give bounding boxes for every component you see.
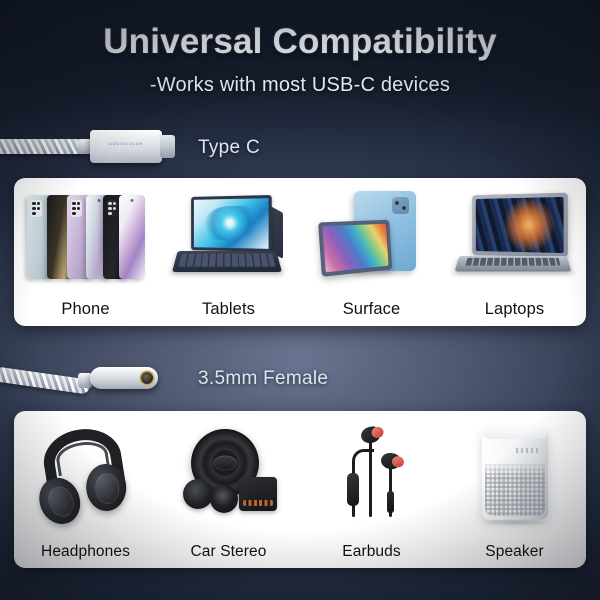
surface-front-screen: [318, 220, 392, 277]
surface-illustration: [300, 178, 443, 297]
laptop-keyboard-base: [454, 256, 571, 271]
car-speaker-tweeter: [210, 485, 238, 513]
plug-brand-text: AUDIOCULAR: [90, 141, 162, 146]
device-cell-speaker: Speaker: [443, 411, 586, 568]
top-glow-overlay: [0, 0, 600, 130]
phone-notch: [97, 199, 100, 202]
earbud-plug: [387, 491, 394, 513]
earbud-wire: [369, 441, 372, 517]
device-cell-earbuds: Earbuds: [300, 411, 443, 568]
speaker-mesh-grille: [485, 464, 545, 516]
car-speaker-midrange: [183, 479, 213, 509]
laptop-screen: [475, 197, 563, 253]
cable-braid: [0, 366, 91, 394]
speaker-shadow: [480, 519, 550, 526]
page-subtitle: -Works with most USB-C devices: [0, 74, 600, 97]
phone-camera-icon: [31, 200, 42, 217]
tablet-screen: [191, 195, 272, 252]
car-stereo-illustration: [157, 411, 300, 540]
laptop-illustration: [443, 178, 586, 297]
section-label-type-c: Type C: [198, 137, 260, 159]
speaker-top-cap: [482, 428, 548, 439]
phone-notch: [130, 199, 133, 202]
device-caption-headphones: Headphones: [41, 544, 130, 560]
headphones-illustration: [14, 411, 157, 540]
car-crossover-box: [239, 477, 277, 511]
phone-camera-icon: [71, 200, 82, 217]
device-cell-laptops: Laptops: [443, 178, 586, 326]
phone-device-6: [119, 195, 145, 279]
device-cell-headphones: Headphones: [14, 411, 157, 568]
cable-braid: [0, 139, 90, 154]
device-cell-surface: Surface: [300, 178, 443, 326]
earbud-inline-remote: [347, 473, 359, 506]
earbuds-illustration: [300, 411, 443, 540]
device-cell-tablets: Tablets: [157, 178, 300, 326]
earbud-right: [379, 452, 400, 471]
device-caption-car-stereo: Car Stereo: [191, 544, 267, 560]
usb-c-plug-icon: AUDIOCULAR: [90, 130, 162, 163]
device-caption-surface: Surface: [343, 301, 401, 318]
tablet-illustration: [157, 178, 300, 297]
device-caption-phone: Phone: [61, 301, 109, 318]
earbud-left: [359, 425, 382, 446]
section-label-jack: 3.5mm Female: [198, 368, 328, 390]
speaker-illustration: [443, 411, 586, 540]
audio-device-card: Headphones Car Stereo: [14, 411, 586, 568]
device-caption-tablets: Tablets: [202, 301, 255, 318]
type-c-device-card: Phone Tablets Surface: [14, 178, 586, 326]
tablet-keyboard: [172, 251, 282, 272]
speaker-body: [482, 428, 548, 520]
surface-camera-icon: [392, 197, 409, 214]
phone-illustration: [14, 178, 157, 297]
speaker-brand-dots: [516, 448, 538, 453]
cable-collar: [78, 139, 92, 154]
audio-jack-icon: [90, 367, 158, 389]
device-caption-laptops: Laptops: [485, 301, 544, 318]
device-caption-speaker: Speaker: [485, 544, 543, 560]
device-cell-phone: Phone: [14, 178, 157, 326]
device-cell-car-stereo: Car Stereo: [157, 411, 300, 568]
product-infographic: Universal Compatibility -Works with most…: [0, 0, 600, 600]
usb-c-plug-tip: [160, 135, 175, 158]
headphone-earcup-right: [85, 463, 127, 512]
cable-collar: [78, 373, 92, 388]
jack-port-hole: [141, 372, 153, 384]
device-caption-earbuds: Earbuds: [342, 544, 400, 560]
page-title: Universal Compatibility: [0, 22, 600, 62]
laptop-lid: [472, 193, 568, 258]
phone-camera-icon: [107, 200, 118, 217]
